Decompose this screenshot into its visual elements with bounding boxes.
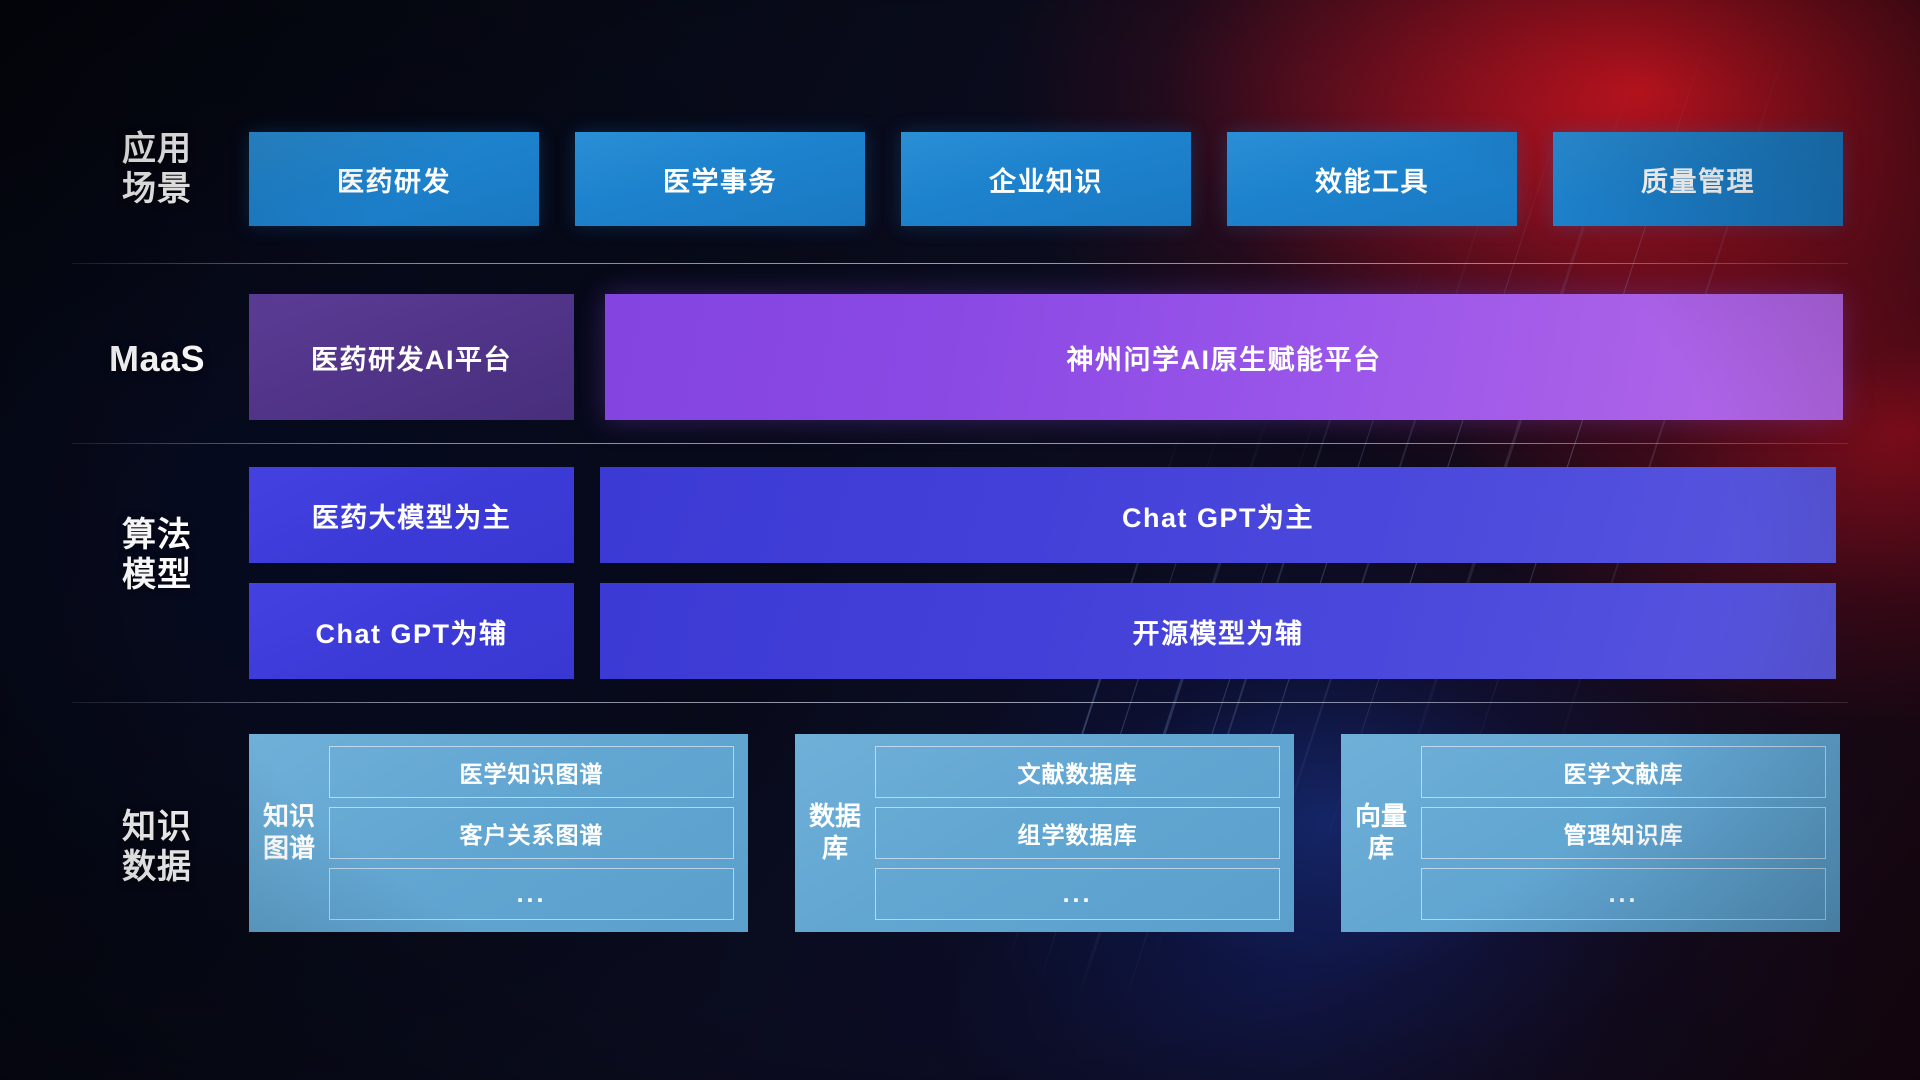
app-card-label: 质量管理: [1641, 160, 1755, 199]
row-label-application-scenarios: 应用 场景: [72, 130, 242, 210]
knowledge-item[interactable]: 管理知识库: [1421, 807, 1826, 859]
row-label-maas: MaaS: [72, 338, 242, 380]
knowledge-card-title: 知识图谱: [261, 746, 317, 920]
algo-cell-label: 开源模型为辅: [1133, 612, 1304, 651]
knowledge-card-items: 医学知识图谱 客户关系图谱 ...: [329, 746, 734, 920]
algo-cell-label: Chat GPT为辅: [315, 612, 507, 651]
row-label-line1: 应用: [72, 130, 242, 170]
row-label-line2: 场景: [72, 170, 242, 210]
knowledge-card-title: 数据库: [807, 746, 863, 920]
app-card-label: 企业知识: [989, 160, 1103, 199]
knowledge-item[interactable]: 医学文献库: [1421, 746, 1826, 798]
app-card-4[interactable]: 质量管理: [1553, 132, 1843, 226]
knowledge-item[interactable]: 组学数据库: [875, 807, 1280, 859]
knowledge-card-items: 文献数据库 组学数据库 ...: [875, 746, 1280, 920]
row-label-algorithm-model: 算法 模型: [72, 516, 242, 596]
app-card-1[interactable]: 医学事务: [575, 132, 865, 226]
maas-right-label: 神州问学AI原生赋能平台: [1067, 338, 1382, 377]
knowledge-card-items: 医学文献库 管理知识库 ...: [1421, 746, 1826, 920]
algo-cell-label: 医药大模型为主: [312, 496, 512, 535]
row-label-knowledge-data: 知识 数据: [72, 808, 242, 888]
row-label-line1: 算法: [72, 516, 242, 556]
knowledge-item-more[interactable]: ...: [875, 868, 1280, 920]
app-card-2[interactable]: 企业知识: [901, 132, 1191, 226]
algo-cell-left-0[interactable]: 医药大模型为主: [249, 467, 574, 563]
knowledge-card-database[interactable]: 数据库 文献数据库 组学数据库 ...: [795, 734, 1294, 932]
knowledge-item[interactable]: 文献数据库: [875, 746, 1280, 798]
knowledge-item-more[interactable]: ...: [1421, 868, 1826, 920]
app-card-label: 医药研发: [337, 160, 451, 199]
slide-canvas: 应用 场景 医药研发 医学事务 企业知识 效能工具 质量管理 MaaS 医药研发…: [0, 0, 1920, 1080]
knowledge-item[interactable]: 客户关系图谱: [329, 807, 734, 859]
algo-cell-right-0[interactable]: Chat GPT为主: [600, 467, 1836, 563]
row-label-text: MaaS: [72, 338, 242, 380]
row-label-line2: 数据: [72, 848, 242, 888]
app-card-label: 医学事务: [663, 160, 777, 199]
row-label-line2: 模型: [72, 556, 242, 596]
divider-1: [72, 263, 1848, 264]
maas-card-left[interactable]: 医药研发AI平台: [249, 294, 574, 420]
knowledge-card-title: 向量库: [1353, 746, 1409, 920]
app-card-0[interactable]: 医药研发: [249, 132, 539, 226]
algo-cell-right-1[interactable]: 开源模型为辅: [600, 583, 1836, 679]
algo-cell-label: Chat GPT为主: [1122, 496, 1314, 535]
knowledge-card-vector-store[interactable]: 向量库 医学文献库 管理知识库 ...: [1341, 734, 1840, 932]
app-card-label: 效能工具: [1315, 160, 1429, 199]
knowledge-item[interactable]: 医学知识图谱: [329, 746, 734, 798]
maas-left-label: 医药研发AI平台: [311, 338, 512, 377]
algo-cell-left-1[interactable]: Chat GPT为辅: [249, 583, 574, 679]
knowledge-item-more[interactable]: ...: [329, 868, 734, 920]
divider-2: [72, 443, 1848, 444]
knowledge-card-knowledge-graph[interactable]: 知识图谱 医学知识图谱 客户关系图谱 ...: [249, 734, 748, 932]
app-card-3[interactable]: 效能工具: [1227, 132, 1517, 226]
divider-3: [72, 702, 1848, 703]
maas-card-right[interactable]: 神州问学AI原生赋能平台: [605, 294, 1843, 420]
row-label-line1: 知识: [72, 808, 242, 848]
